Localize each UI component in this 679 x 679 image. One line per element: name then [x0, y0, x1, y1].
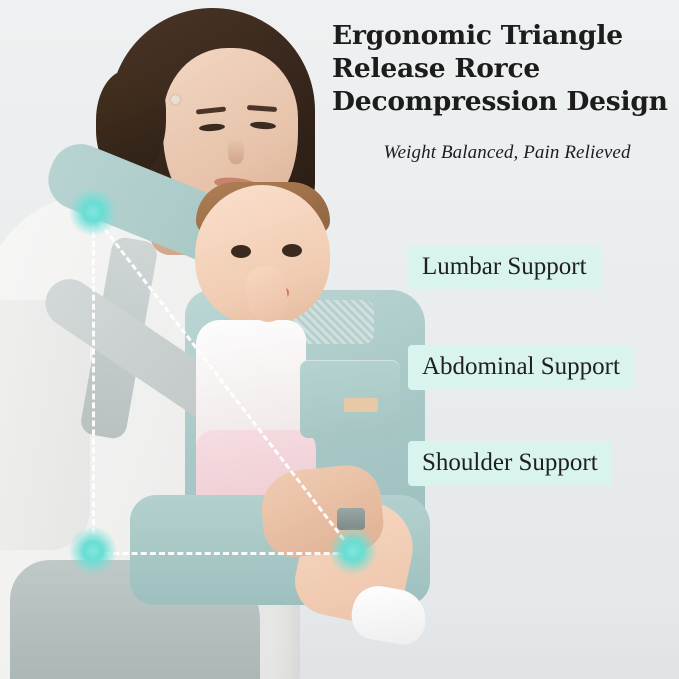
- carrier-brand-tag: [344, 398, 378, 412]
- headline-line-3: Decompression Design: [332, 85, 677, 118]
- feature-chip-shoulder-support: Shoulder Support: [408, 441, 612, 486]
- mother-earring: [171, 95, 180, 104]
- triangle-edge-vertical: [92, 214, 95, 552]
- baby-eye-right: [282, 244, 302, 257]
- feature-chip-lumbar-support: Lumbar Support: [408, 245, 601, 290]
- baby-eye-left: [231, 245, 251, 258]
- headline-line-1: Ergonomic Triangle: [332, 19, 677, 52]
- headline-line-2: Release Rorce: [332, 52, 677, 85]
- glow-point-shoulder: [69, 188, 117, 236]
- feature-chip-abdominal-support: Abdominal Support: [408, 345, 634, 390]
- mother-nose: [228, 138, 244, 164]
- glow-point-abdomen: [69, 527, 117, 575]
- product-image-canvas: Ergonomic Triangle Release Rorce Decompr…: [0, 0, 679, 679]
- mother-sleeve: [0, 300, 90, 550]
- subheadline: Weight Balanced, Pain Relieved: [342, 142, 672, 164]
- headline: Ergonomic Triangle Release Rorce Decompr…: [332, 19, 677, 118]
- glow-point-hip-seat: [329, 527, 377, 575]
- triangle-edge-horizontal: [95, 552, 357, 555]
